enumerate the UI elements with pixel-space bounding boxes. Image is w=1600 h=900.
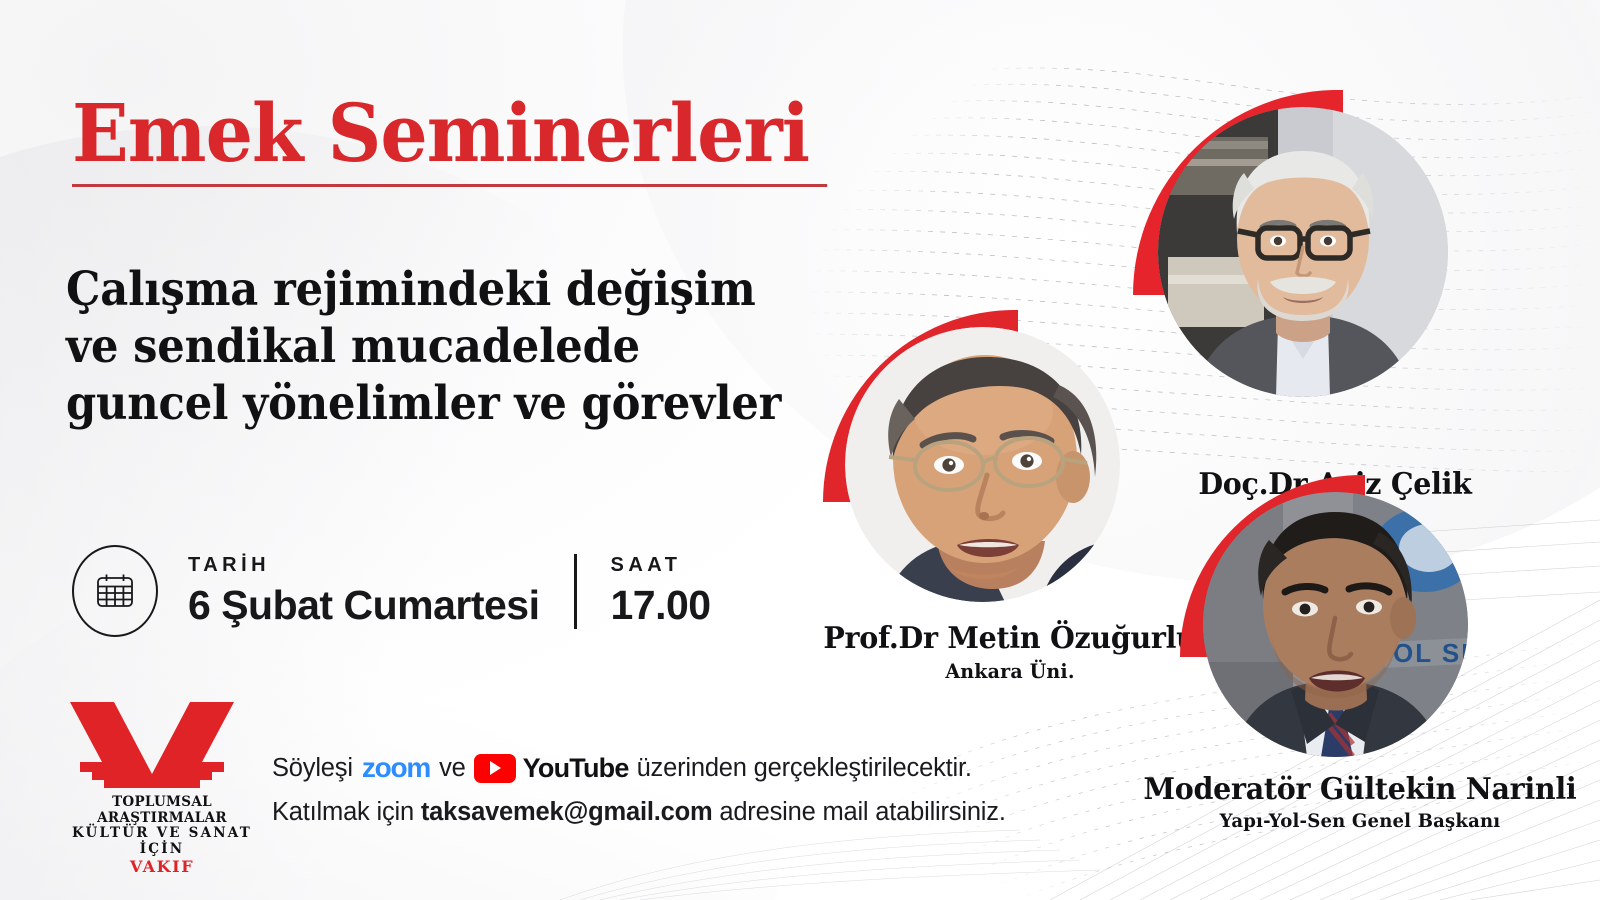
date-time-block: TARİH 6 Şubat Cumartesi SAAT 17.00 bbox=[72, 545, 745, 637]
footer-line-2: Katılmak için taksavemek@gmail.com adres… bbox=[272, 798, 1006, 827]
speaker-org: Yapı-Yol-Sen Genel Başkanı bbox=[1132, 810, 1588, 832]
v-monogram-icon bbox=[62, 700, 242, 795]
title-block: Emek Seminerleri bbox=[72, 95, 884, 187]
footer-line-1: Söyleşi zoom ve YouTube üzerinden gerçek… bbox=[272, 752, 1006, 784]
foundation-logo: TOPLUMSAL ARAŞTIRMALAR KÜLTÜR VE SANAT İ… bbox=[62, 700, 262, 876]
logo-line-3: VAKIF bbox=[62, 857, 262, 876]
portrait-metin-ozugurlu bbox=[845, 327, 1120, 602]
date-value: 6 Şubat Cumartesi bbox=[188, 582, 540, 629]
title-underline bbox=[72, 184, 827, 187]
zoom-logo: zoom bbox=[362, 752, 430, 784]
speaker-name: Prof.Dr Metin Özuğurlu bbox=[811, 621, 1210, 656]
footer-join-prefix: Katılmak için bbox=[272, 798, 414, 827]
speaker-card-gultekin-narinli: OL SE bbox=[1175, 470, 1575, 870]
youtube-logo: YouTube bbox=[474, 753, 629, 784]
footer-conjunction: ve bbox=[439, 754, 466, 783]
footer-join-suffix: adresine mail atabilirsiniz. bbox=[719, 798, 1005, 827]
speaker-org: Ankara Üni. bbox=[811, 659, 1210, 683]
time-label: SAAT bbox=[611, 554, 711, 577]
seminar-poster: Emek Seminerleri Çalışma rejimindeki değ… bbox=[0, 0, 1600, 900]
footer-info: Söyleşi zoom ve YouTube üzerinden gerçek… bbox=[272, 752, 1006, 827]
calendar-icon bbox=[72, 545, 158, 637]
footer-prefix: Söyleşi bbox=[272, 754, 353, 783]
contact-email[interactable]: taksavemek@gmail.com bbox=[421, 798, 713, 827]
youtube-wordmark: YouTube bbox=[523, 753, 629, 784]
portrait-gultekin-narinli: OL SE bbox=[1203, 492, 1468, 757]
date-column: TARİH 6 Şubat Cumartesi bbox=[188, 554, 574, 629]
time-value: 17.00 bbox=[611, 582, 711, 629]
logo-line-2: KÜLTÜR VE SANAT İÇİN bbox=[62, 826, 262, 857]
page-title: Emek Seminerleri bbox=[72, 95, 827, 172]
logo-line-1: TOPLUMSAL ARAŞTIRMALAR bbox=[62, 795, 262, 826]
time-column: SAAT 17.00 bbox=[574, 554, 745, 629]
footer-suffix: üzerinden gerçekleştirilecektir. bbox=[637, 754, 972, 783]
date-label: TARİH bbox=[188, 554, 540, 577]
speaker-name: Moderatör Gültekin Narinli bbox=[1132, 772, 1588, 807]
seminar-subtitle: Çalışma rejimindeki değişim ve sendikal … bbox=[66, 262, 781, 433]
speaker-card-metin-ozugurlu: Prof.Dr Metin Özuğurlu Ankara Üni. bbox=[815, 305, 1205, 695]
youtube-play-icon bbox=[474, 754, 516, 783]
svg-text:OL SE: OL SE bbox=[1393, 638, 1468, 668]
